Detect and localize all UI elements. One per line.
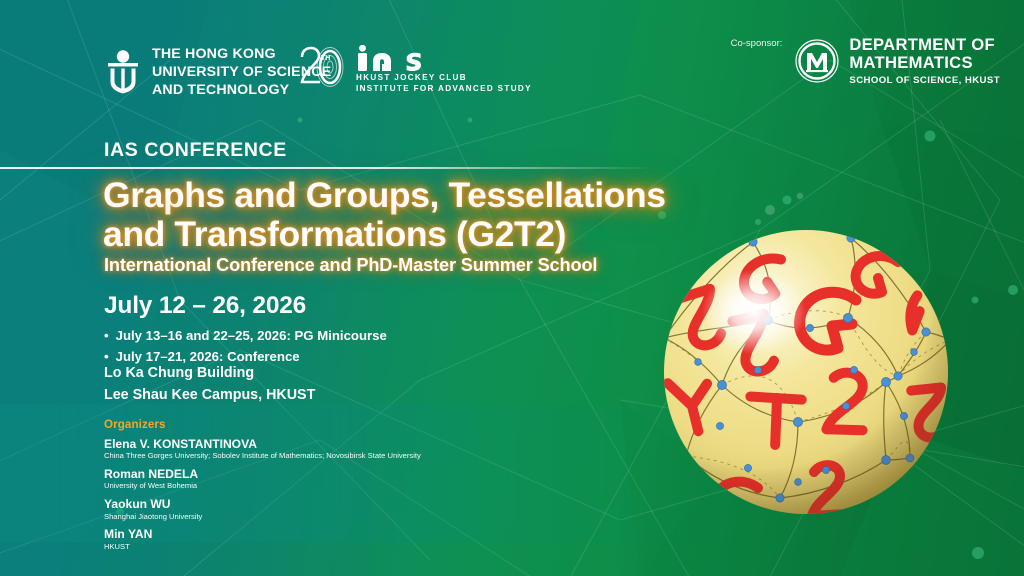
ias-logo: TH HKUST JOCKEY CLUB INSTITUTE FOR ADVAN… <box>297 44 532 95</box>
math-line-1: DEPARTMENT OF <box>849 36 1000 54</box>
ias-20th-anniversary-icon: TH <box>297 44 347 92</box>
ias-sub-line-1: HKUST JOCKEY CLUB <box>356 73 532 84</box>
math-department-logo: DEPARTMENT OF MATHEMATICS SCHOOL OF SCIE… <box>794 36 1000 86</box>
organizer-name: Elena V. KONSTANTINOVA <box>104 437 421 451</box>
poster-header: THE HONG KONG UNIVERSITY OF SCIENCE AND … <box>0 0 1024 118</box>
list-item: • July 13–16 and 22–25, 2026: PG Minicou… <box>104 325 387 346</box>
list-item: Elena V. KONSTANTINOVA China Three Gorge… <box>104 437 421 461</box>
header-divider-rule <box>0 167 660 169</box>
title-line-1: Graphs and Groups, Tessellations <box>103 176 723 215</box>
dates-list: • July 13–16 and 22–25, 2026: PG Minicou… <box>104 325 387 368</box>
organizer-name: Min YAN <box>104 527 421 541</box>
venue-line-1: Lo Ka Chung Building <box>104 363 315 385</box>
dates-block: July 12 – 26, 2026 • July 13–16 and 22–2… <box>104 292 387 368</box>
organizer-name: Roman NEDELA <box>104 467 421 481</box>
organizer-name: Yaokun WU <box>104 497 421 511</box>
conference-poster: THE HONG KONG UNIVERSITY OF SCIENCE AND … <box>0 0 1024 576</box>
date-item-text: July 13–16 and 22–25, 2026: PG Minicours… <box>116 325 387 346</box>
math-line-3: SCHOOL OF SCIENCE, HKUST <box>849 75 1000 86</box>
list-item: Yaokun WU Shanghai Jiaotong University <box>104 497 421 521</box>
page-subtitle: International Conference and PhD-Master … <box>104 255 744 276</box>
cosponsor-block: Co-sponsor: DEPARTMENT OF MATHEMATICS SC… <box>731 36 1000 86</box>
organizer-affiliation: HKUST <box>104 542 421 552</box>
math-monogram-icon <box>794 38 840 84</box>
venue-block: Lo Ka Chung Building Lee Shau Kee Campus… <box>104 363 315 406</box>
dates-main: July 12 – 26, 2026 <box>104 292 387 320</box>
organizers-block: Organizers Elena V. KONSTANTINOVA China … <box>104 418 421 558</box>
math-line-2: MATHEMATICS <box>849 54 1000 72</box>
organizer-affiliation: Shanghai Jiaotong University <box>104 512 421 522</box>
page-title: Graphs and Groups, Tessellations and Tra… <box>103 176 723 253</box>
organizer-affiliation: University of West Bohemia <box>104 481 421 491</box>
venue-line-2: Lee Shau Kee Campus, HKUST <box>104 385 315 407</box>
svg-text:TH: TH <box>321 55 330 62</box>
list-item: Roman NEDELA University of West Bohemia <box>104 467 421 491</box>
organizers-heading: Organizers <box>104 418 421 431</box>
ias-sub-line-2: INSTITUTE FOR ADVANCED STUDY <box>356 84 532 95</box>
tessellated-sphere-illustration <box>658 220 958 522</box>
cosponsor-label: Co-sponsor: <box>731 38 783 49</box>
organizer-affiliation: China Three Gorges University; Sobolev I… <box>104 451 421 461</box>
title-line-2: and Transformations (G2T2) <box>103 215 723 254</box>
list-item: Min YAN HKUST <box>104 527 421 551</box>
sphere-svg <box>658 220 958 522</box>
kicker-label: IAS CONFERENCE <box>104 139 287 162</box>
ias-wordmark-icon <box>356 45 476 72</box>
hkust-shield-icon <box>104 49 142 95</box>
bullet-icon: • <box>104 325 109 346</box>
math-wordmark: DEPARTMENT OF MATHEMATICS SCHOOL OF SCIE… <box>849 36 1000 86</box>
